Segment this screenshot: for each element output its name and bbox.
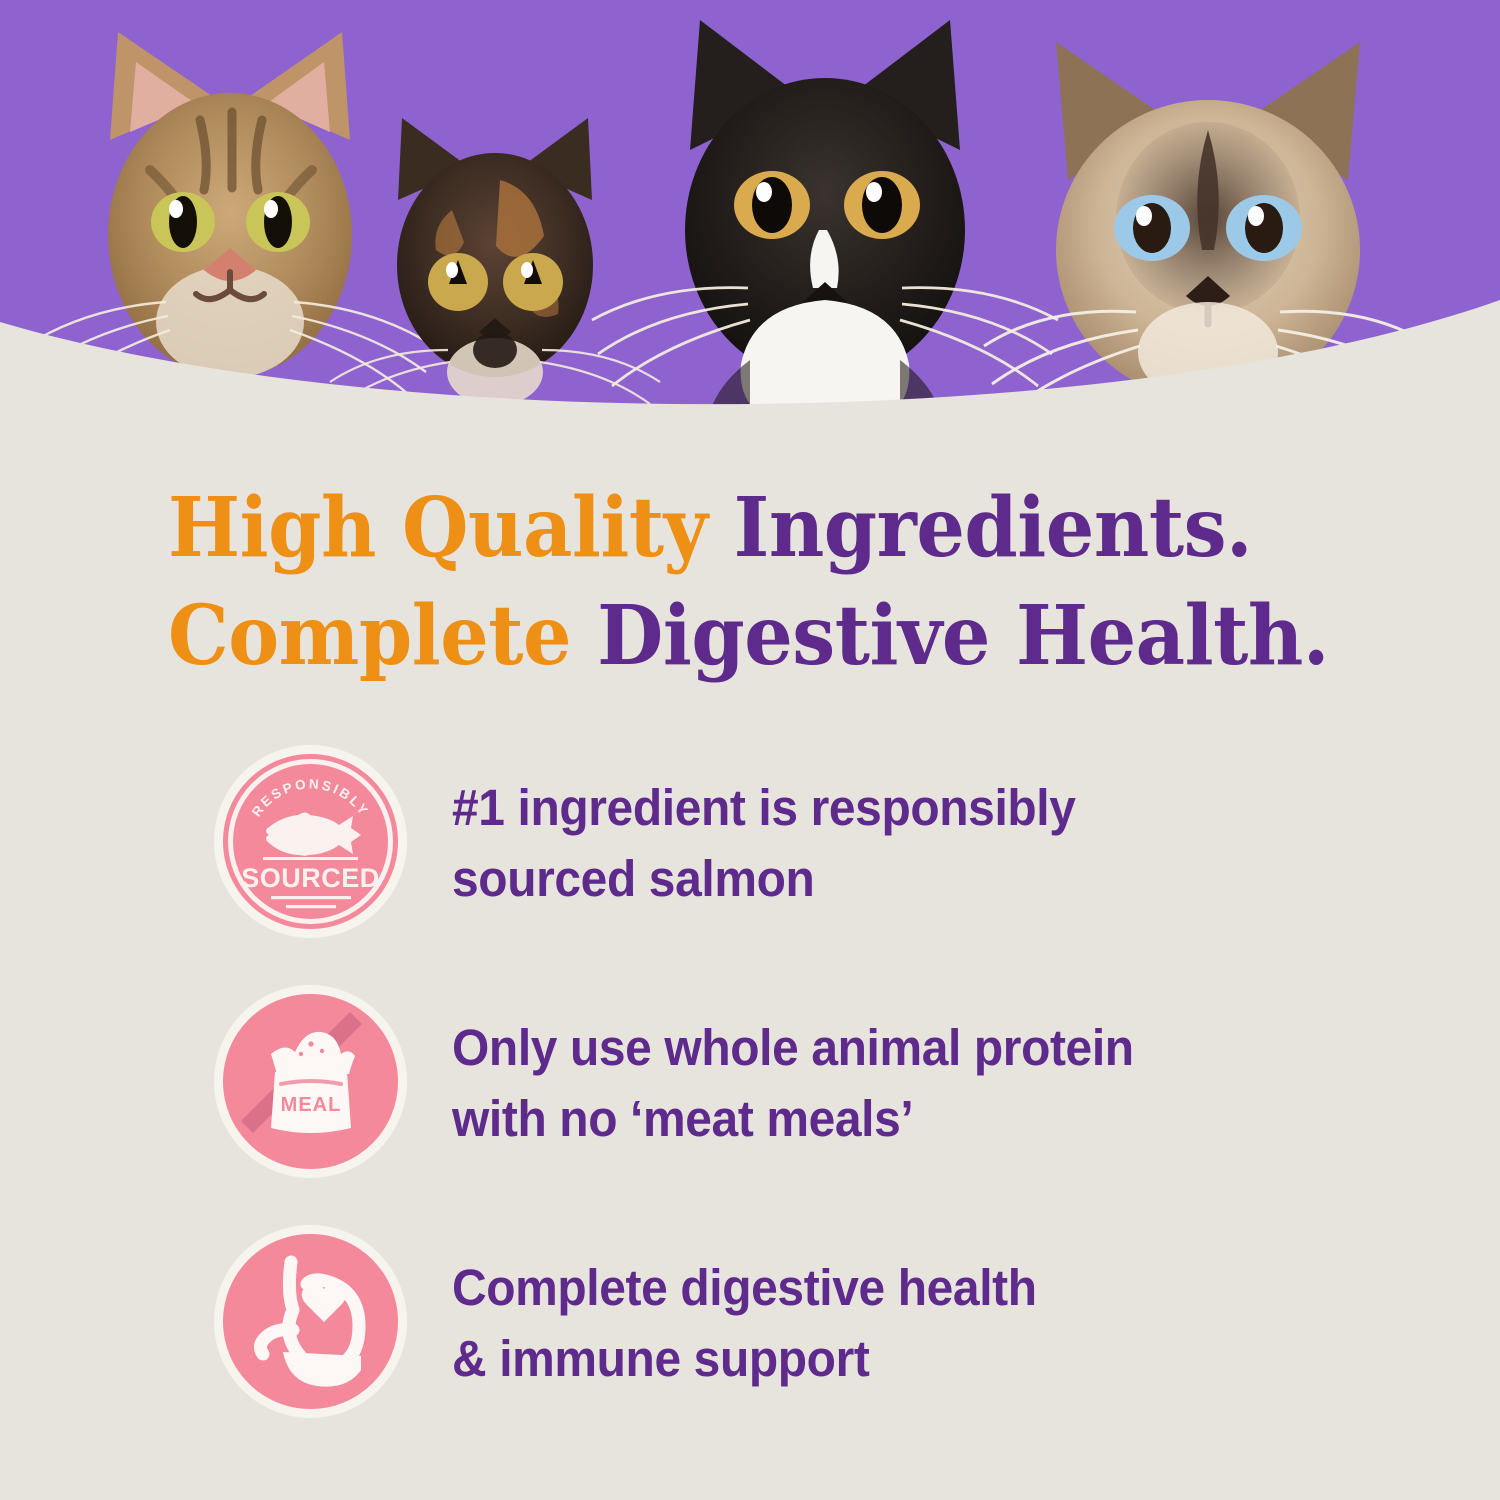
stomach-heart-badge-svg [223, 1234, 398, 1409]
badge-word-meal: MEAL [280, 1094, 341, 1116]
feature-text-2-line-1: Only use whole animal protein [452, 1012, 1134, 1083]
feature-text-3-line-2: & immune support [452, 1323, 1037, 1394]
cats-illustration [0, 0, 1500, 430]
feature-text-1: #1 ingredient is responsibly sourced sal… [452, 748, 1076, 914]
headline-line-2-orange: Complete [168, 588, 597, 684]
headline-line-1-orange: High Quality [168, 480, 734, 576]
headline-line-1: High Quality Ingredients. [168, 474, 1303, 582]
feature-text-3-line-1: Complete digestive health [452, 1252, 1037, 1323]
badge-wrap-3 [210, 1228, 410, 1409]
page-title: High Quality Ingredients. Complete Diges… [168, 474, 1388, 690]
feature-text-2: Only use whole animal protein with no ‘m… [452, 988, 1134, 1154]
feature-text-3: Complete digestive health & immune suppo… [452, 1228, 1037, 1394]
list-item: RESPONSIBLY SOURCED [0, 748, 1500, 988]
headline-line-1-purple: Ingredients. [734, 480, 1253, 576]
stomach-heart-digestive-health-badge-icon [223, 1234, 398, 1409]
headline-line-2: Complete Digestive Health. [168, 582, 1303, 690]
fish-badge-svg: RESPONSIBLY SOURCED [223, 754, 398, 929]
no-meat-meal-bag-badge-icon: MEAL [223, 994, 398, 1169]
product-feature-panel: High Quality Ingredients. Complete Diges… [0, 0, 1500, 1500]
feature-text-2-line-2: with no ‘meat meals’ [452, 1083, 1134, 1154]
responsibly-sourced-fish-badge-icon: RESPONSIBLY SOURCED [223, 754, 398, 929]
feature-text-1-line-2: sourced salmon [452, 843, 1076, 914]
list-item: Complete digestive health & immune suppo… [0, 1228, 1500, 1468]
badge-word-sourced: SOURCED [241, 863, 380, 893]
feature-list: RESPONSIBLY SOURCED [0, 748, 1500, 1468]
feature-text-1-line-1: #1 ingredient is responsibly [452, 772, 1076, 843]
list-item: MEAL Only use whole animal protein with … [0, 988, 1500, 1228]
badge-wrap-1: RESPONSIBLY SOURCED [210, 748, 410, 929]
meal-bag-badge-svg: MEAL [223, 994, 398, 1169]
headline-line-2-purple: Digestive Health. [597, 588, 1329, 684]
badge-wrap-2: MEAL [210, 988, 410, 1169]
hero-banner [0, 0, 1500, 430]
